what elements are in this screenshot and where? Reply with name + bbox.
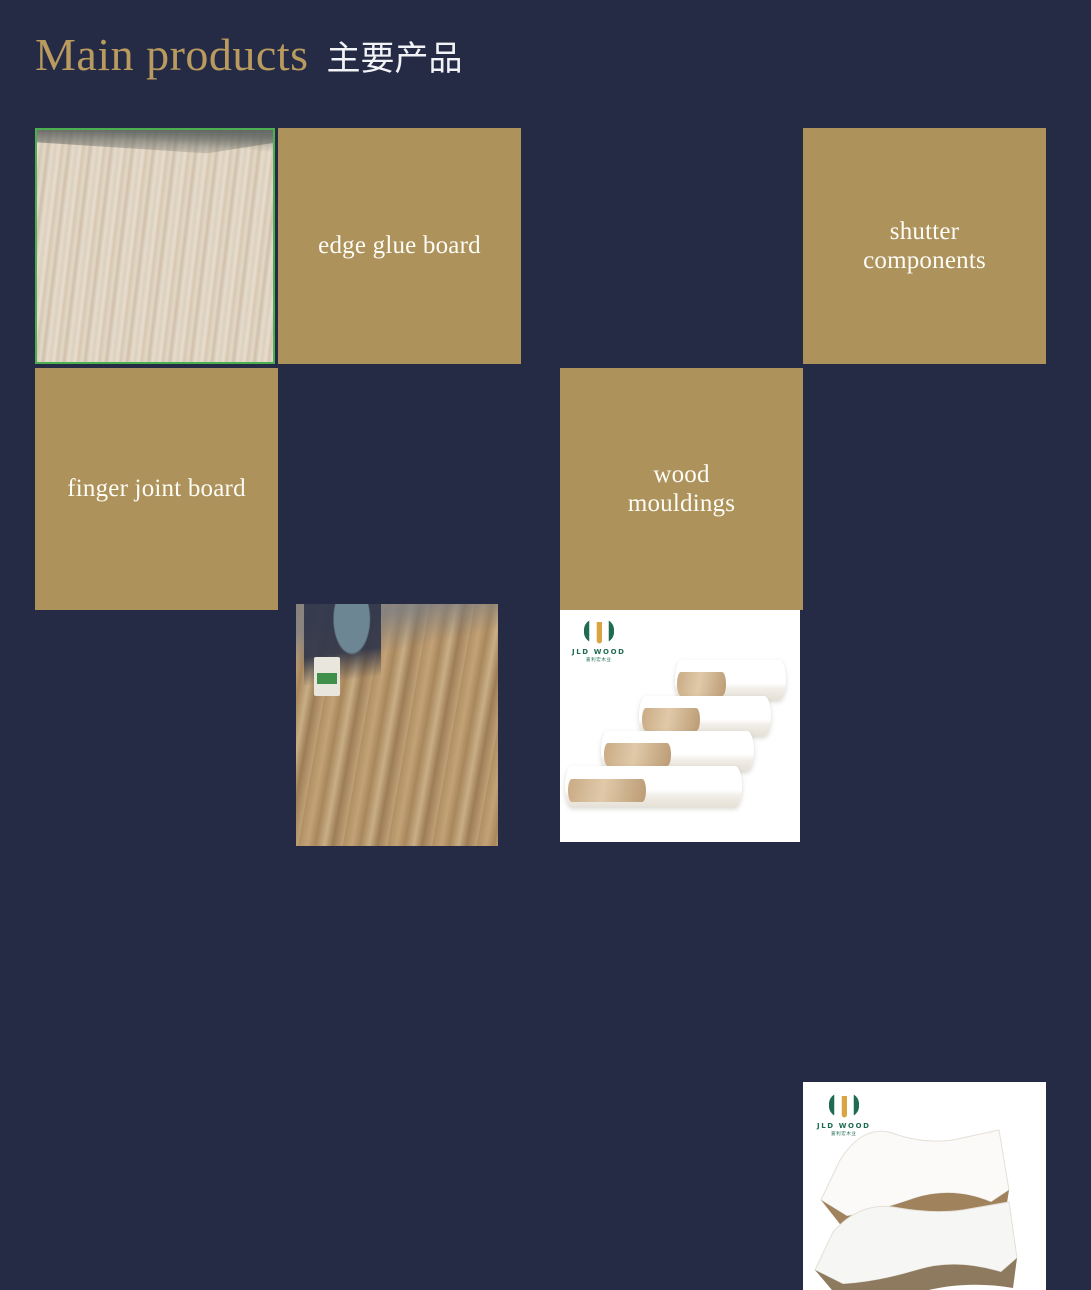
page-title: Main products 主要产品 <box>35 28 463 81</box>
jld-wood-logo: JLD WOOD 嘉利宏木业 <box>817 1090 871 1137</box>
page-title-cn: 主要产品 <box>327 31 463 80</box>
jld-monogram-icon <box>584 616 614 646</box>
product-grid: edge glue board finger joint board JLD W… <box>35 128 1046 610</box>
shutter-slat <box>675 660 785 700</box>
page-title-en: Main products <box>35 28 309 81</box>
product-label-shutter-components[interactable]: shuttercomponents <box>803 128 1046 364</box>
product-photo-wood-mouldings: JLD WOOD 嘉利宏木业 <box>803 1082 1046 1290</box>
jld-wood-subtext: 嘉利宏木业 <box>831 1131 857 1137</box>
product-label-finger-joint-board[interactable]: finger joint board <box>35 368 278 610</box>
paint-bucket <box>314 657 340 696</box>
shutter-slat <box>565 766 743 806</box>
product-label-text: finger joint board <box>53 474 260 504</box>
product-photo-finger-joint-board <box>296 604 498 846</box>
jld-wood-logo: JLD WOOD 嘉利宏木业 <box>572 616 626 663</box>
product-photo-edge-glue-board <box>35 128 275 364</box>
jld-monogram-icon <box>829 1090 859 1120</box>
jld-wood-subtext: 嘉利宏木业 <box>586 657 612 663</box>
shutter-slat <box>639 696 771 736</box>
jld-wood-wordmark: JLD WOOD <box>572 648 626 656</box>
product-label-text: shuttercomponents <box>849 217 1000 276</box>
product-label-text: edge glue board <box>304 231 495 261</box>
product-photo-shutter-components: JLD WOOD 嘉利宏木业 <box>560 606 800 842</box>
shutter-slat <box>601 731 755 771</box>
product-label-edge-glue-board[interactable]: edge glue board <box>278 128 521 364</box>
product-label-wood-mouldings[interactable]: woodmouldings <box>560 368 803 610</box>
product-label-text: woodmouldings <box>614 460 749 519</box>
jld-wood-wordmark: JLD WOOD <box>817 1122 871 1130</box>
